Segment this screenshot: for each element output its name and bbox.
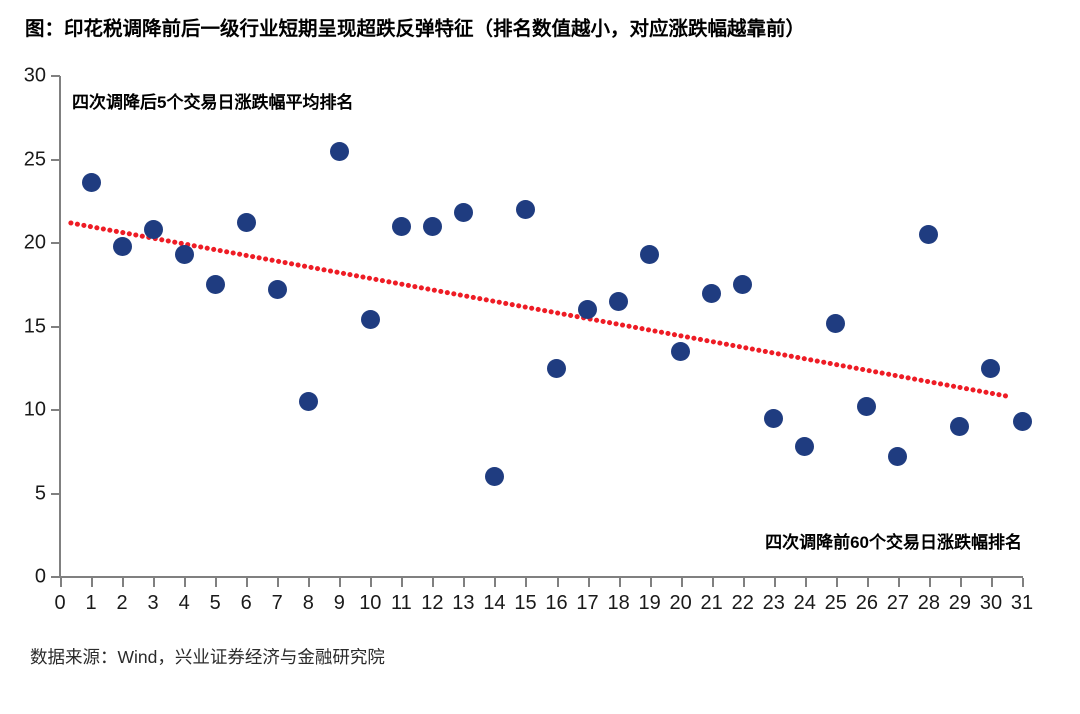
- y-tick-label: 10: [24, 399, 46, 422]
- x-tick-label: 2: [117, 592, 128, 615]
- x-tick-mark: [867, 578, 869, 587]
- data-point: [671, 342, 690, 361]
- series-label-y: 四次调降后5个交易日涨跌幅平均排名: [72, 88, 353, 113]
- x-tick-label: 18: [607, 592, 629, 615]
- plot-area: 051015202530: [60, 76, 1022, 577]
- y-tick-label: 15: [24, 315, 46, 338]
- data-point: [516, 200, 535, 219]
- x-tick-mark: [743, 578, 745, 587]
- data-point: [609, 292, 628, 311]
- y-tick-label: 20: [24, 232, 46, 255]
- data-point: [268, 280, 287, 299]
- data-point: [547, 359, 566, 378]
- x-tick-mark: [681, 578, 683, 587]
- x-tick-label: 23: [763, 592, 785, 615]
- data-point: [299, 392, 318, 411]
- x-tick-mark: [463, 578, 465, 587]
- x-tick-mark: [650, 578, 652, 587]
- data-point: [392, 217, 411, 236]
- x-tick-mark: [991, 578, 993, 587]
- x-tick-label: 12: [421, 592, 443, 615]
- x-tick-label: 27: [887, 592, 909, 615]
- data-point: [578, 300, 597, 319]
- x-tick-mark: [960, 578, 962, 587]
- y-tick-mark: [51, 409, 60, 411]
- x-tick-mark: [588, 578, 590, 587]
- data-point: [113, 237, 132, 256]
- x-tick-label: 28: [918, 592, 940, 615]
- data-point: [981, 359, 1000, 378]
- x-tick-label: 6: [241, 592, 252, 615]
- x-tick-label: 15: [514, 592, 536, 615]
- y-tick-mark: [51, 242, 60, 244]
- x-tick-mark: [339, 578, 341, 587]
- x-tick-label: 24: [794, 592, 816, 615]
- data-point: [640, 245, 659, 264]
- x-tick-mark: [619, 578, 621, 587]
- x-tick-mark: [370, 578, 372, 587]
- x-tick-mark: [898, 578, 900, 587]
- y-tick-mark: [51, 326, 60, 328]
- data-point: [206, 275, 225, 294]
- x-tick-label: 20: [670, 592, 692, 615]
- x-tick-mark: [1022, 578, 1024, 587]
- page-title: 图：印花税调降前后一级行业短期呈现超跌反弹特征（排名数值越小，对应涨跌幅越靠前）: [25, 17, 1065, 41]
- data-point: [919, 225, 938, 244]
- x-tick-label: 0: [54, 592, 65, 615]
- series-label-x: 四次调降前60个交易日涨跌幅排名: [765, 528, 1022, 553]
- y-tick-mark: [51, 493, 60, 495]
- x-tick-label: 31: [1011, 592, 1033, 615]
- x-tick-label: 21: [701, 592, 723, 615]
- data-point: [857, 397, 876, 416]
- x-tick-label: 3: [148, 592, 159, 615]
- x-tick-label: 7: [272, 592, 283, 615]
- data-point: [795, 437, 814, 456]
- x-tick-mark: [184, 578, 186, 587]
- data-point: [826, 314, 845, 333]
- data-point: [702, 284, 721, 303]
- y-tick-label: 5: [35, 482, 46, 505]
- data-point: [888, 447, 907, 466]
- x-tick-mark: [525, 578, 527, 587]
- x-tick-mark: [401, 578, 403, 587]
- x-tick-mark: [60, 578, 62, 587]
- x-tick-mark: [153, 578, 155, 587]
- data-point: [237, 213, 256, 232]
- trendline: [60, 76, 1022, 577]
- data-point: [82, 173, 101, 192]
- y-tick-mark: [51, 75, 60, 77]
- x-tick-mark: [308, 578, 310, 587]
- x-tick-mark: [494, 578, 496, 587]
- x-tick-label: 11: [391, 592, 412, 615]
- x-tick-label: 10: [359, 592, 381, 615]
- data-point: [733, 275, 752, 294]
- data-point: [361, 310, 380, 329]
- data-point: [330, 142, 349, 161]
- x-tick-mark: [836, 578, 838, 587]
- x-tick-label: 25: [825, 592, 847, 615]
- x-axis-ticks: 0123456789101112131415161718192021222324…: [60, 578, 1022, 628]
- x-tick-label: 16: [545, 592, 567, 615]
- x-tick-mark: [929, 578, 931, 587]
- data-point: [175, 245, 194, 264]
- data-point: [454, 203, 473, 222]
- x-tick-label: 26: [856, 592, 878, 615]
- data-point: [144, 220, 163, 239]
- x-tick-mark: [277, 578, 279, 587]
- x-tick-label: 5: [210, 592, 221, 615]
- data-point: [1013, 412, 1032, 431]
- x-tick-mark: [805, 578, 807, 587]
- x-tick-label: 14: [483, 592, 505, 615]
- y-tick-mark: [51, 576, 60, 578]
- x-tick-label: 9: [334, 592, 345, 615]
- data-point: [950, 417, 969, 436]
- x-tick-mark: [774, 578, 776, 587]
- x-tick-label: 17: [576, 592, 598, 615]
- x-tick-label: 29: [949, 592, 971, 615]
- x-tick-mark: [432, 578, 434, 587]
- x-tick-mark: [91, 578, 93, 587]
- x-tick-mark: [122, 578, 124, 587]
- x-tick-label: 30: [980, 592, 1002, 615]
- x-tick-label: 1: [85, 592, 96, 615]
- x-tick-label: 4: [179, 592, 190, 615]
- x-tick-label: 19: [638, 592, 660, 615]
- data-point: [764, 409, 783, 428]
- y-tick-label: 0: [35, 566, 46, 589]
- y-tick-label: 25: [24, 148, 46, 171]
- x-tick-mark: [215, 578, 217, 587]
- chart-figure: 图：印花税调降前后一级行业短期呈现超跌反弹特征（排名数值越小，对应涨跌幅越靠前）…: [0, 0, 1080, 714]
- x-tick-mark: [712, 578, 714, 587]
- source-note: 数据来源：Wind，兴业证券经济与金融研究院: [30, 644, 385, 669]
- y-tick-label: 30: [24, 65, 46, 88]
- data-point: [423, 217, 442, 236]
- x-tick-mark: [246, 578, 248, 587]
- x-tick-label: 22: [732, 592, 754, 615]
- y-tick-mark: [51, 159, 60, 161]
- x-tick-label: 8: [303, 592, 314, 615]
- x-tick-label: 13: [452, 592, 474, 615]
- data-point: [485, 467, 504, 486]
- x-tick-mark: [557, 578, 559, 587]
